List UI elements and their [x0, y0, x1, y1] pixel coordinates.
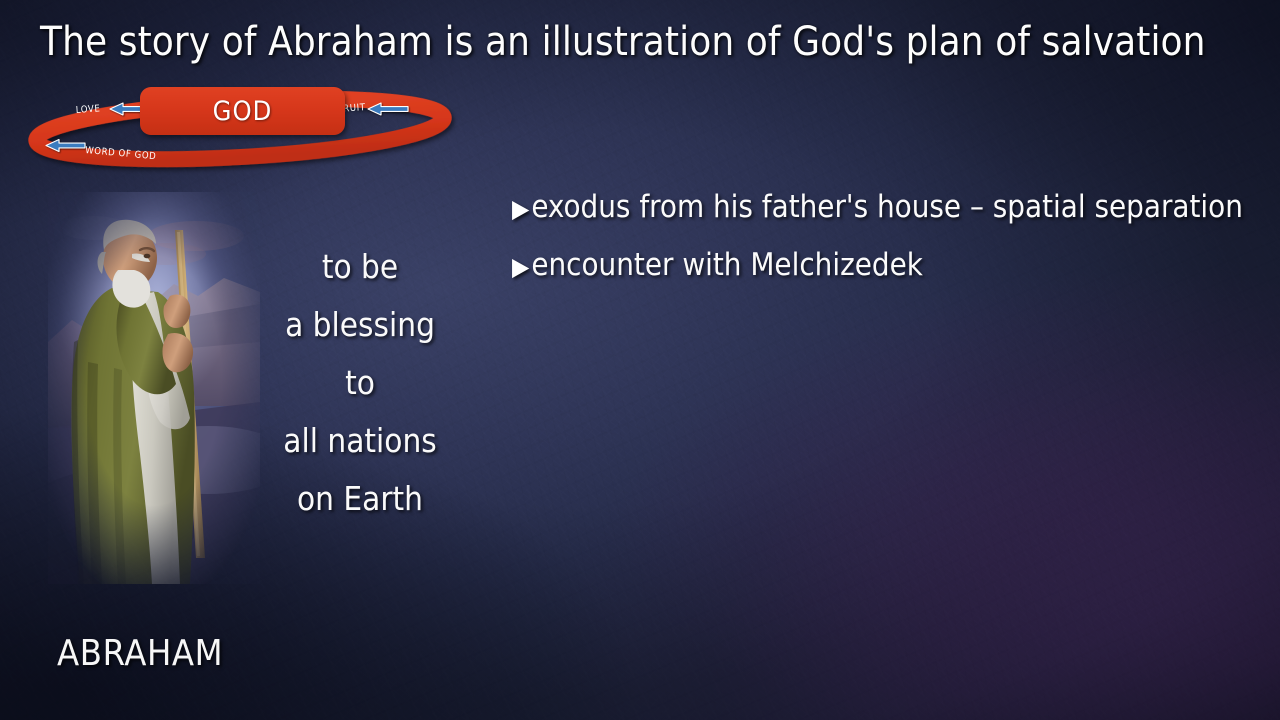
god-cycle-diagram: LOVE FRUIT WORD OF GOD GOD [28, 82, 468, 172]
bullet-item-text: encounter with Melchizedek [531, 236, 923, 294]
slide-title: The story of Abraham is an illustration … [40, 18, 1240, 66]
blessing-text-block: to be a blessing to all nations on Earth [262, 238, 458, 528]
bullet-triangle-icon: ▶ [512, 254, 529, 279]
bullet-item: ▶ exodus from his father's house – spati… [512, 178, 1260, 236]
blessing-line: a blessing [262, 296, 458, 354]
bullet-triangle-icon: ▶ [512, 196, 529, 221]
bullet-item: ▶ encounter with Melchizedek [512, 236, 1260, 294]
blessing-line: to [262, 354, 458, 412]
god-center-box: GOD [140, 87, 345, 135]
blessing-line: to be [262, 238, 458, 296]
abraham-illustration [48, 192, 260, 584]
slide-caption: ABRAHAM [57, 633, 223, 674]
bullet-list: ▶ exodus from his father's house – spati… [512, 178, 1260, 294]
blessing-line: on Earth [262, 470, 458, 528]
ring-label-love: LOVE [75, 103, 100, 116]
blessing-line: all nations [262, 412, 458, 470]
god-center-label: GOD [140, 87, 345, 135]
presentation-slide: The story of Abraham is an illustration … [0, 0, 1280, 720]
bullet-item-text: exodus from his father's house – spatial… [531, 178, 1243, 236]
